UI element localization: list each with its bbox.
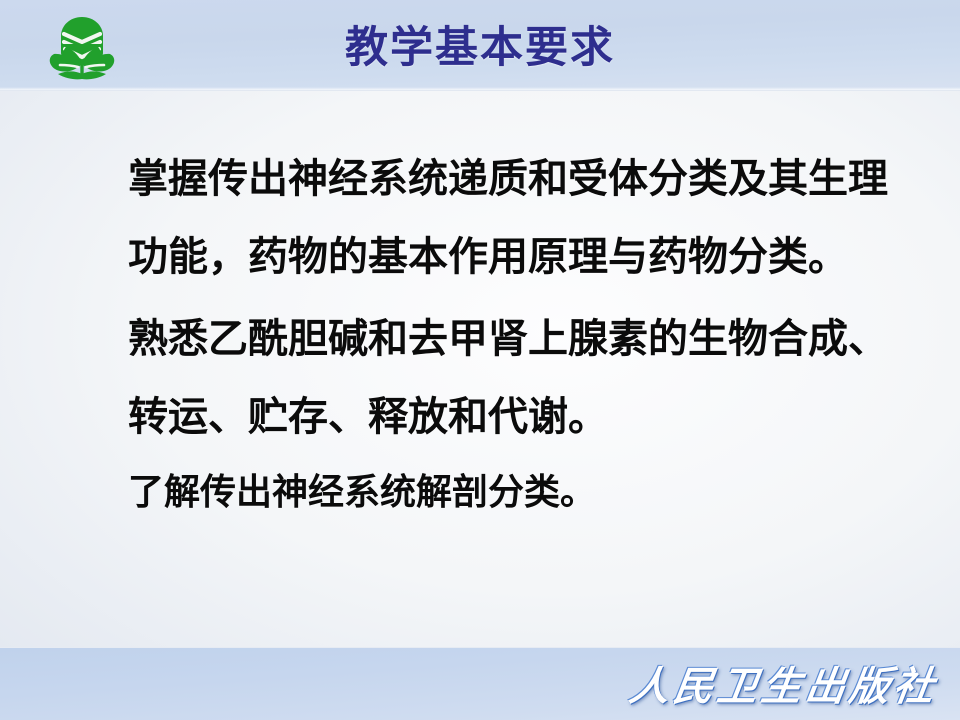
slide-body: 掌握传出神经系统递质和受体分类及其生理功能，药物的基本作用原理与药物分类。 熟悉… xyxy=(128,140,928,528)
page-title: 教学基本要求 xyxy=(0,22,960,74)
footer-band: 人民卫生出版社 xyxy=(0,647,960,720)
publisher-name: 人民卫生出版社 xyxy=(626,654,942,712)
objective-paragraph-3: 了解传出神经系统解剖分类。 xyxy=(128,458,898,528)
objective-paragraph-1: 掌握传出神经系统递质和受体分类及其生理功能，药物的基本作用原理与药物分类。 xyxy=(128,140,898,296)
slide: 教学基本要求 掌握传出神经系统递质和受体分类及其生理功能，药物的基本作用原理与药… xyxy=(0,0,960,720)
objective-paragraph-2: 熟悉乙酰胆碱和去甲肾上腺素的生物合成、转运、贮存、释放和代谢。 xyxy=(128,300,898,456)
publisher-wordmark: 人民卫生出版社 xyxy=(630,654,938,712)
